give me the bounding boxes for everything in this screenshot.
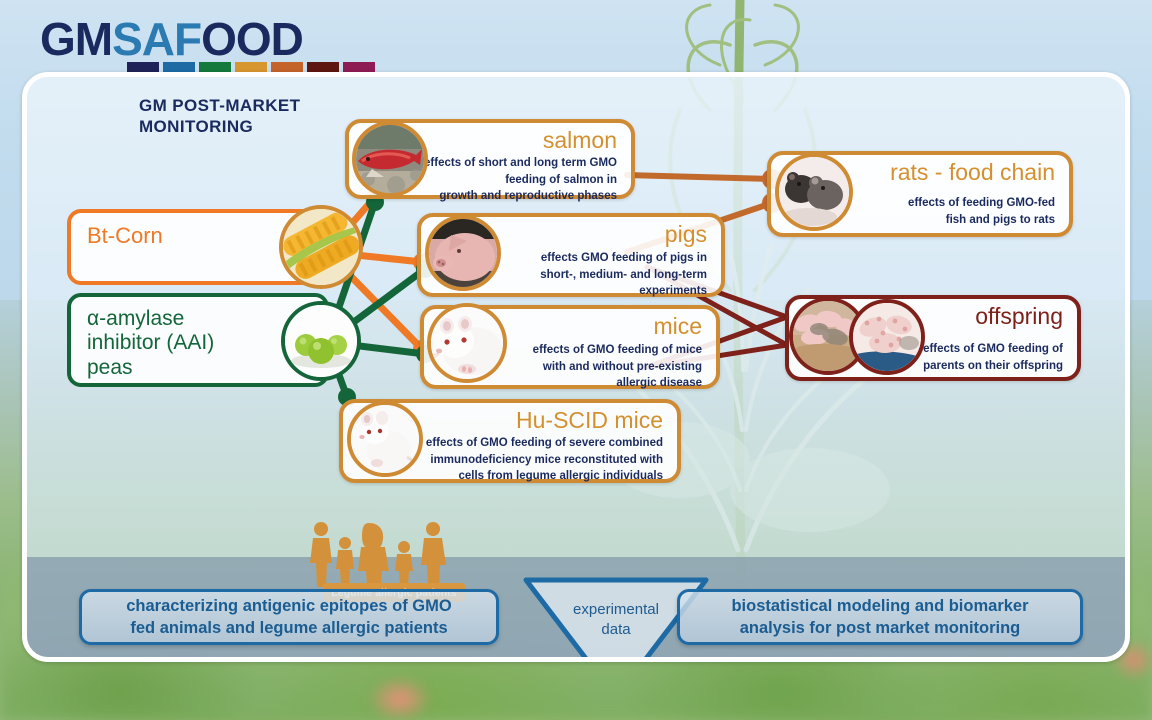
card-title-mice: mice — [653, 313, 702, 340]
input-label-bt-corn: Bt-Corn — [87, 223, 163, 249]
card-title-pigs: pigs — [665, 221, 707, 248]
poster-canvas: GMSAFOOD GM POST-MARKET MONITORING — [0, 0, 1152, 720]
card-body-rats: effects of feeding GMO-fed fish and pigs… — [908, 195, 1055, 228]
input-label-aai-peas: α-amylase inhibitor (AAI) peas — [87, 307, 214, 380]
main-panel: GM POST-MARKET MONITORING — [22, 72, 1130, 662]
thumb-ring-salmon — [352, 121, 428, 197]
conclusion-box-epitopes[interactable]: characterizing antigenic epitopes of GMO… — [79, 589, 499, 645]
logo-part-two: SAF — [112, 13, 201, 65]
white-mouse-sitting-photo — [351, 405, 419, 473]
green-peas-photo — [285, 305, 357, 377]
card-title-hu-scid: Hu-SCID mice — [516, 407, 663, 434]
thumb-ring-rats — [775, 153, 853, 231]
thumb-ring-peas — [281, 301, 361, 381]
thumb-ring-pigs — [425, 215, 501, 291]
logo-part-one: GM — [40, 13, 112, 65]
logo-part-three: OOD — [201, 13, 303, 65]
thumb-ring-mice — [427, 303, 507, 383]
two-rats-photo — [779, 157, 849, 227]
brand-logo: GMSAFOOD — [40, 12, 303, 66]
card-title-rats: rats - food chain — [890, 159, 1055, 186]
conclusion-text-biostatistics: biostatistical modeling and biomarker an… — [731, 595, 1028, 640]
corn-cobs-photo — [283, 209, 359, 285]
thumb-ring-hu-scid — [347, 401, 423, 477]
card-body-offspring: effects of GMO feeding of parents on the… — [923, 341, 1063, 374]
conclusion-box-biostatistics[interactable]: biostatistical modeling and biomarker an… — [677, 589, 1083, 645]
card-body-pigs: effects GMO feeding of pigs in short-, m… — [540, 250, 707, 300]
salmon-fish-photo — [356, 125, 424, 193]
card-body-mice: effects of GMO feeding of mice with and … — [533, 342, 702, 392]
pig-head-photo — [429, 219, 497, 287]
thumb-ring-offspring-right — [849, 299, 925, 375]
mouse-pups-closeup-photo — [853, 303, 921, 371]
card-body-salmon: effects of short and long term GMO feedi… — [424, 155, 617, 205]
thumb-ring-corn — [279, 205, 363, 289]
card-title-offspring: offspring — [975, 303, 1063, 330]
family-silhouette-icon — [305, 517, 465, 587]
white-mouse-photo — [431, 307, 503, 379]
card-body-hu-scid: effects of GMO feeding of severe combine… — [426, 435, 663, 485]
card-title-salmon: salmon — [543, 127, 617, 154]
conclusion-text-epitopes: characterizing antigenic epitopes of GMO… — [126, 595, 451, 640]
